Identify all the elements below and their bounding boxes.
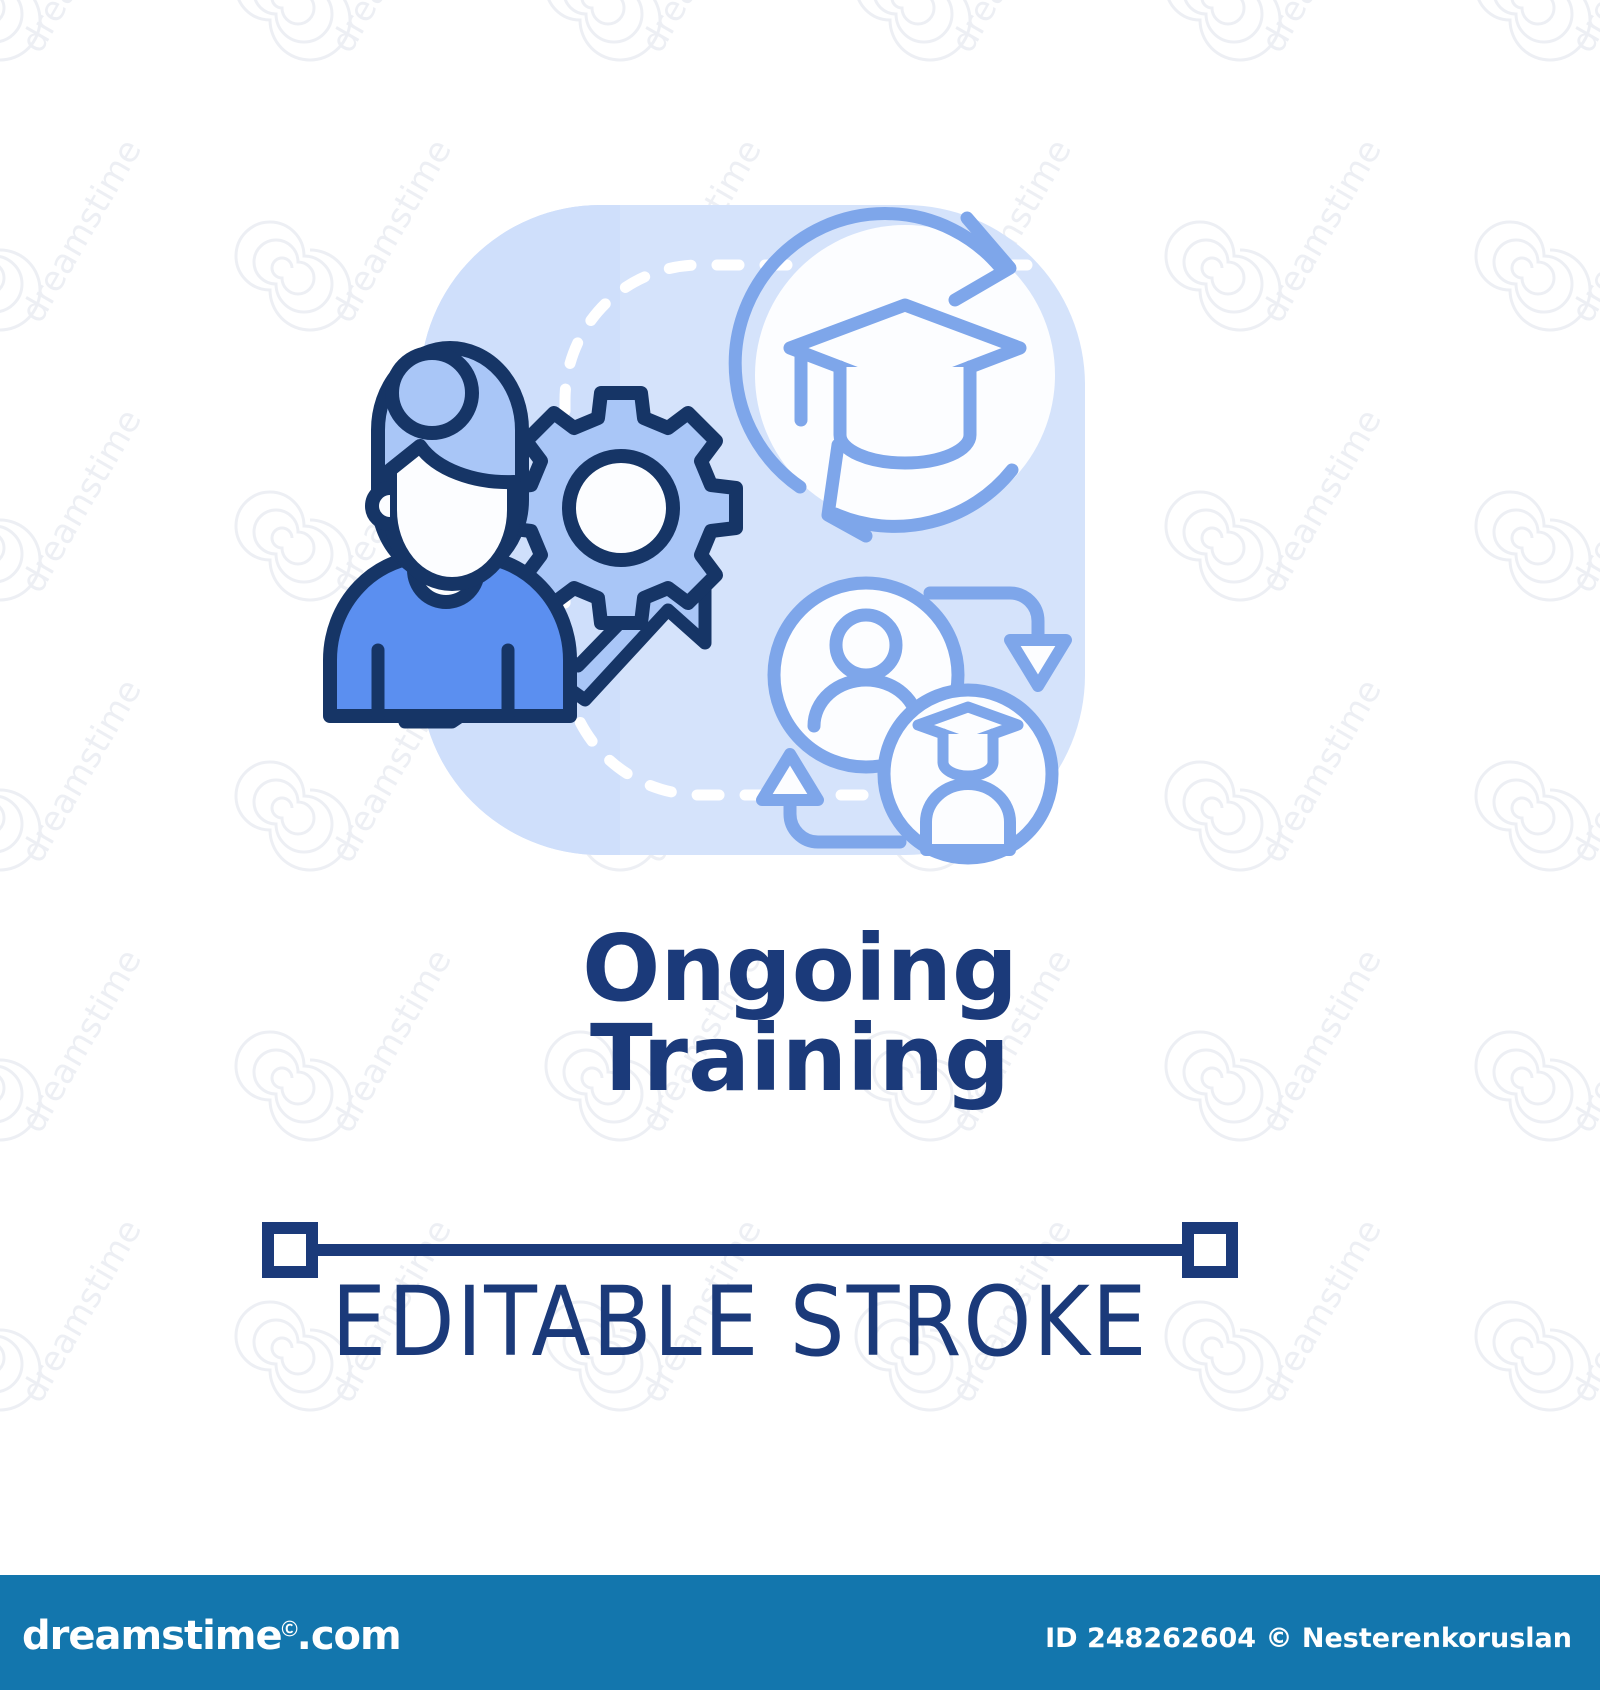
user-head [836,615,896,675]
concept-icon: Ongoing Training EDITABLE STROKE [0,0,1600,1400]
illustration-canvas: dreamstime [0,0,1600,1690]
gear-center-hole [569,456,673,560]
person-bun [392,353,472,433]
dreamstime-logo-name: dreamstime [22,1613,282,1659]
graduate-shoulders [926,784,1010,850]
dreamstime-logo-tld: .com [297,1613,401,1659]
person-ear [372,488,390,524]
registered-mark-icon: Ⓒ [282,1620,297,1639]
graduate-cap-body [943,734,993,776]
graduate-circle-icon [884,690,1052,858]
mortarboard-body [840,367,970,463]
dreamstime-footer-bar: dreamstimeⒸ.com ID 248262604 © Nesterenk… [0,1575,1600,1690]
concept-title-line2: Training [590,1005,1010,1112]
dreamstime-logo[interactable]: dreamstimeⒸ.com [22,1613,401,1659]
editable-stroke-caption: EDITABLE STROKE [332,1266,1149,1378]
image-credit: ID 248262604 © Nesterenkoruslan [1045,1623,1572,1654]
ruler-handle-left[interactable] [268,1228,312,1272]
ruler-handle-right[interactable] [1188,1228,1232,1272]
